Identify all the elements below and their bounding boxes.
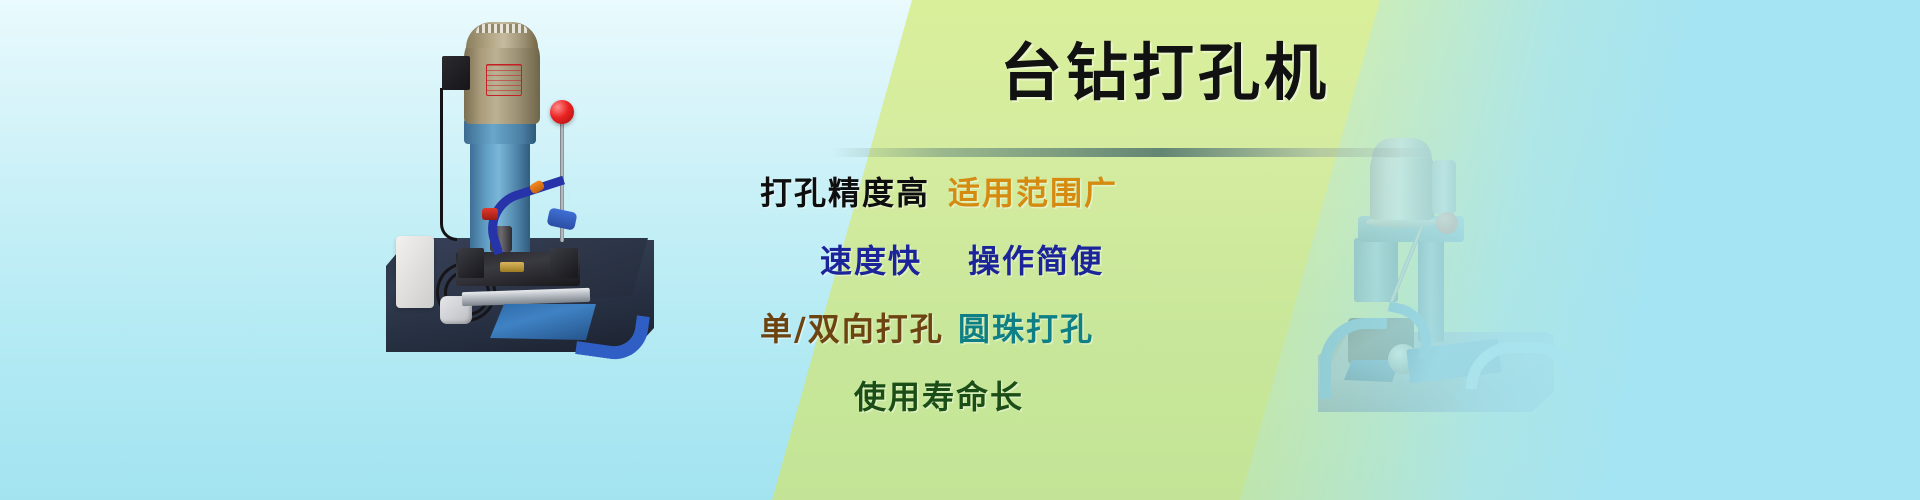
feature-ball-drilling: 圆珠打孔 [958, 304, 1094, 350]
bench-drill-machine-photo-left [378, 12, 678, 372]
machine-spec-label [486, 64, 522, 96]
machine-power-cord [440, 88, 457, 241]
machine-junction-box [442, 56, 470, 90]
product-banner: 台钻打孔机 打孔精度高 适用范围广 速度快 操作简便 单/双向打孔 圆珠打孔 使… [0, 0, 1920, 500]
feature-high-precision: 打孔精度高 [760, 168, 930, 214]
machine-motor-vents [476, 24, 528, 33]
machine-large-hose [575, 307, 650, 363]
machine-feed-lever-knob [550, 100, 574, 124]
machine-brass-workpiece [500, 262, 524, 272]
feature-single-double-drilling: 单/双向打孔 [760, 304, 944, 350]
feature-fast-speed: 速度快 [820, 236, 922, 282]
machine-hose-red-fitting [482, 208, 498, 220]
feature-wide-application: 适用范围广 [948, 168, 1118, 214]
feature-long-lifespan: 使用寿命长 [854, 372, 1024, 418]
feature-easy-operation: 操作简便 [968, 236, 1104, 282]
machine-vise-jaw-left [458, 248, 484, 278]
machine-white-control-box [396, 236, 434, 308]
banner-title: 台钻打孔机 [935, 40, 1395, 105]
feature-list: 打孔精度高 适用范围广 速度快 操作简便 单/双向打孔 圆珠打孔 使用寿命长 [760, 168, 1520, 458]
machine-vise-jaw-right [550, 248, 578, 278]
title-divider [832, 148, 1432, 157]
